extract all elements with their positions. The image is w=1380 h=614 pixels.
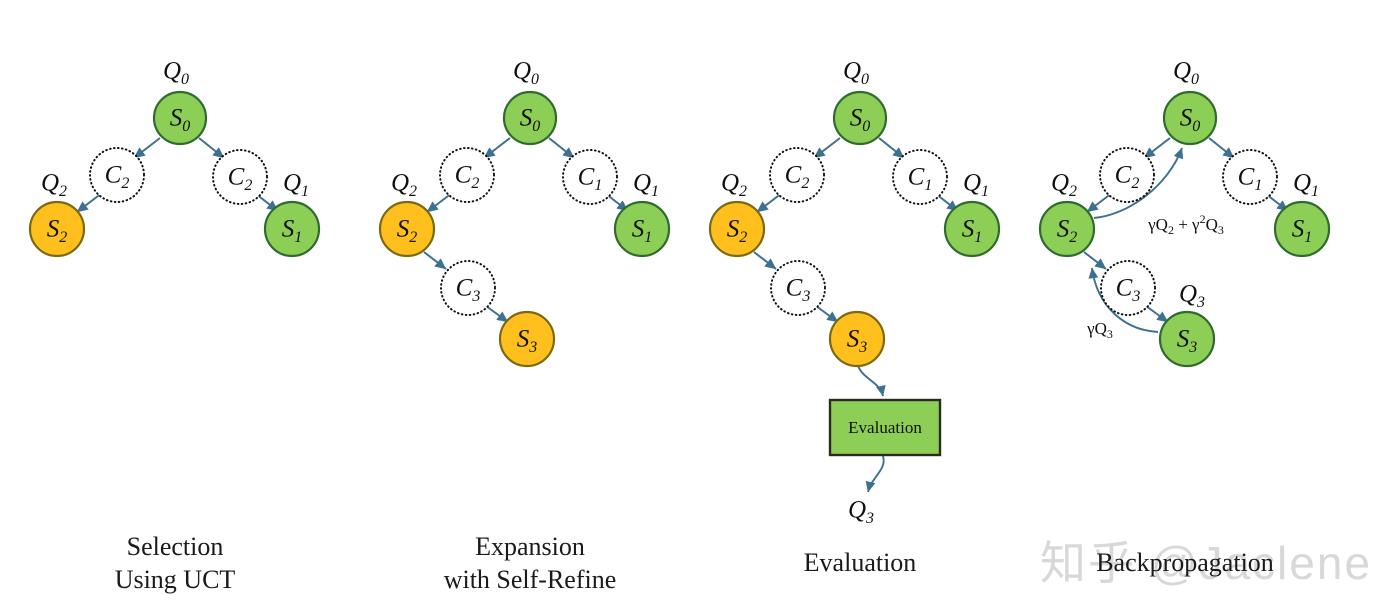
backprop-label-s2-to-s0: γQ2 + γ2Q3 bbox=[1147, 212, 1224, 237]
caption-expansion: Expansion with Self-Refine bbox=[395, 530, 665, 597]
q-label2-s0: Q0 bbox=[513, 58, 539, 88]
edge3-c3-s3 bbox=[816, 306, 838, 322]
edge4-s0-c1 bbox=[1209, 138, 1234, 158]
mcts-diagram-svg: S0 Q0 C2 C2 S2 Q2 S1 Q1 S0 Q0 C2 bbox=[0, 0, 1380, 614]
panel-backpropagation: γQ2 + γ2Q3 γQ3 S0 Q0 C2 C1 S2 Q2 S1 Q1 C… bbox=[1040, 58, 1329, 366]
evaluation-box-label: Evaluation bbox=[848, 418, 922, 437]
edge4-s0-c2 bbox=[1144, 138, 1170, 158]
q-label-s1: Q1 bbox=[283, 170, 309, 200]
q-label-s2: Q2 bbox=[41, 170, 67, 200]
q-label2-s1: Q1 bbox=[633, 170, 659, 200]
q-label3-s1: Q1 bbox=[963, 170, 989, 200]
q-label4-s1: Q1 bbox=[1293, 170, 1319, 200]
edge-c2-s2 bbox=[77, 193, 102, 212]
edge3-c2-s2 bbox=[757, 193, 782, 212]
edge3-s0-c1 bbox=[879, 138, 904, 158]
panel-expansion: S0 Q0 C2 C1 S2 Q2 S1 Q1 C3 S3 bbox=[380, 58, 669, 366]
q-label3-s0: Q0 bbox=[843, 58, 869, 88]
edge2-s2-c3 bbox=[424, 252, 446, 269]
panel-selection: S0 Q0 C2 C2 S2 Q2 S1 Q1 bbox=[30, 58, 319, 256]
edge2-s0-c2 bbox=[484, 138, 510, 158]
q-label-s0: Q0 bbox=[163, 58, 189, 88]
edge2-c3-s3 bbox=[486, 306, 508, 322]
edge-s0-c2 bbox=[134, 138, 160, 158]
edge3-evalbox-q3 bbox=[868, 456, 884, 492]
edge3-s3-evalbox bbox=[858, 366, 883, 396]
figure-canvas: S0 Q0 C2 C2 S2 Q2 S1 Q1 S0 Q0 C2 bbox=[0, 0, 1380, 614]
q-label4-s3: Q3 bbox=[1179, 281, 1205, 311]
panel-evaluation: S0 Q0 C2 C1 S2 Q2 S1 Q1 C3 S3 Evaluation… bbox=[710, 58, 999, 527]
caption-selection: Selection Using UCT bbox=[40, 530, 310, 597]
edge2-c2-s2 bbox=[427, 193, 452, 212]
caption-backpropagation: Backpropagation bbox=[1050, 546, 1320, 579]
evaluation-output-q3: Q3 bbox=[848, 497, 874, 527]
edge3-s2-c3 bbox=[754, 252, 776, 269]
q-label3-s2: Q2 bbox=[721, 170, 747, 200]
caption-evaluation: Evaluation bbox=[725, 546, 995, 579]
q-label2-s2: Q2 bbox=[391, 170, 417, 200]
edge4-s2-c3 bbox=[1084, 252, 1106, 269]
edge-s0-c1 bbox=[199, 138, 224, 158]
edge4-c2-s2 bbox=[1087, 193, 1112, 212]
backprop-label-s3-to-s2: γQ3 bbox=[1086, 319, 1113, 341]
edge4-c3-s3 bbox=[1146, 306, 1168, 322]
q-label4-s2: Q2 bbox=[1051, 170, 1077, 200]
edge3-s0-c2 bbox=[814, 138, 840, 158]
edge2-s0-c1 bbox=[549, 138, 574, 158]
q-label4-s0: Q0 bbox=[1173, 58, 1199, 88]
